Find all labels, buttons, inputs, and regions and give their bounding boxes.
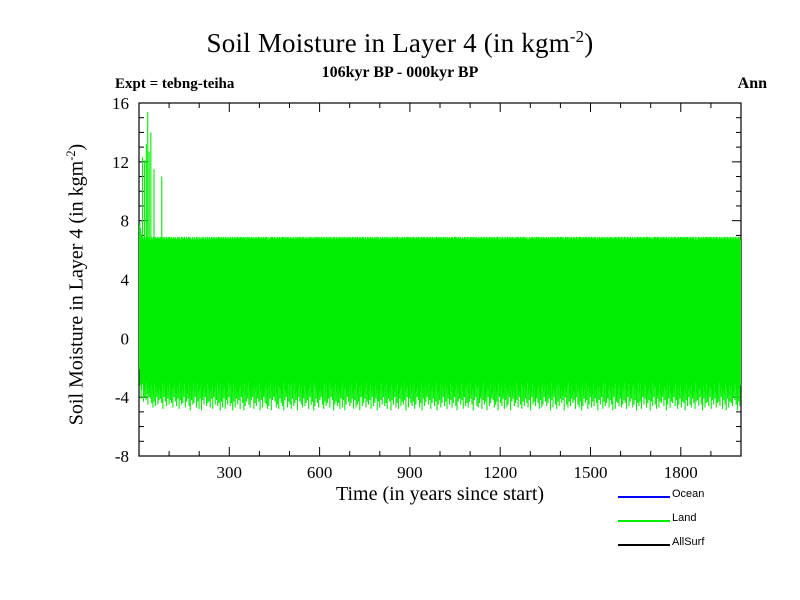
legend: Ocean Land AllSurf xyxy=(618,486,788,558)
legend-swatch-ocean xyxy=(618,496,670,498)
x-tick-label: 900 xyxy=(397,463,423,482)
legend-label-allsurf: AllSurf xyxy=(672,536,704,548)
legend-item-land[interactable]: Land xyxy=(618,510,788,534)
legend-label-land: Land xyxy=(672,512,696,524)
y-tick-label: -4 xyxy=(115,388,130,407)
legend-swatch-land xyxy=(618,520,670,522)
x-tick-label: 1200 xyxy=(483,463,517,482)
data-series-group xyxy=(139,112,741,411)
legend-swatch-allsurf xyxy=(618,544,670,546)
x-tick-label: 1800 xyxy=(664,463,698,482)
y-tick-label: 8 xyxy=(121,212,130,231)
y-tick-label: 16 xyxy=(112,94,129,113)
y-tick-label: 12 xyxy=(112,153,129,172)
y-tick-label: -8 xyxy=(115,447,129,466)
x-tick-label: 300 xyxy=(217,463,243,482)
y-tick-label: 0 xyxy=(121,329,130,348)
soil-moisture-timeseries-figure: Soil Moisture in Layer 4 (in kgm-2) 106k… xyxy=(0,0,800,600)
legend-item-allsurf[interactable]: AllSurf xyxy=(618,534,788,558)
series-line-land xyxy=(139,112,741,411)
x-tick-label: 600 xyxy=(307,463,333,482)
y-tick-label: 4 xyxy=(121,271,130,290)
x-tick-label: 1500 xyxy=(574,463,608,482)
legend-item-ocean[interactable]: Ocean xyxy=(618,486,788,510)
legend-label-ocean: Ocean xyxy=(672,488,704,500)
